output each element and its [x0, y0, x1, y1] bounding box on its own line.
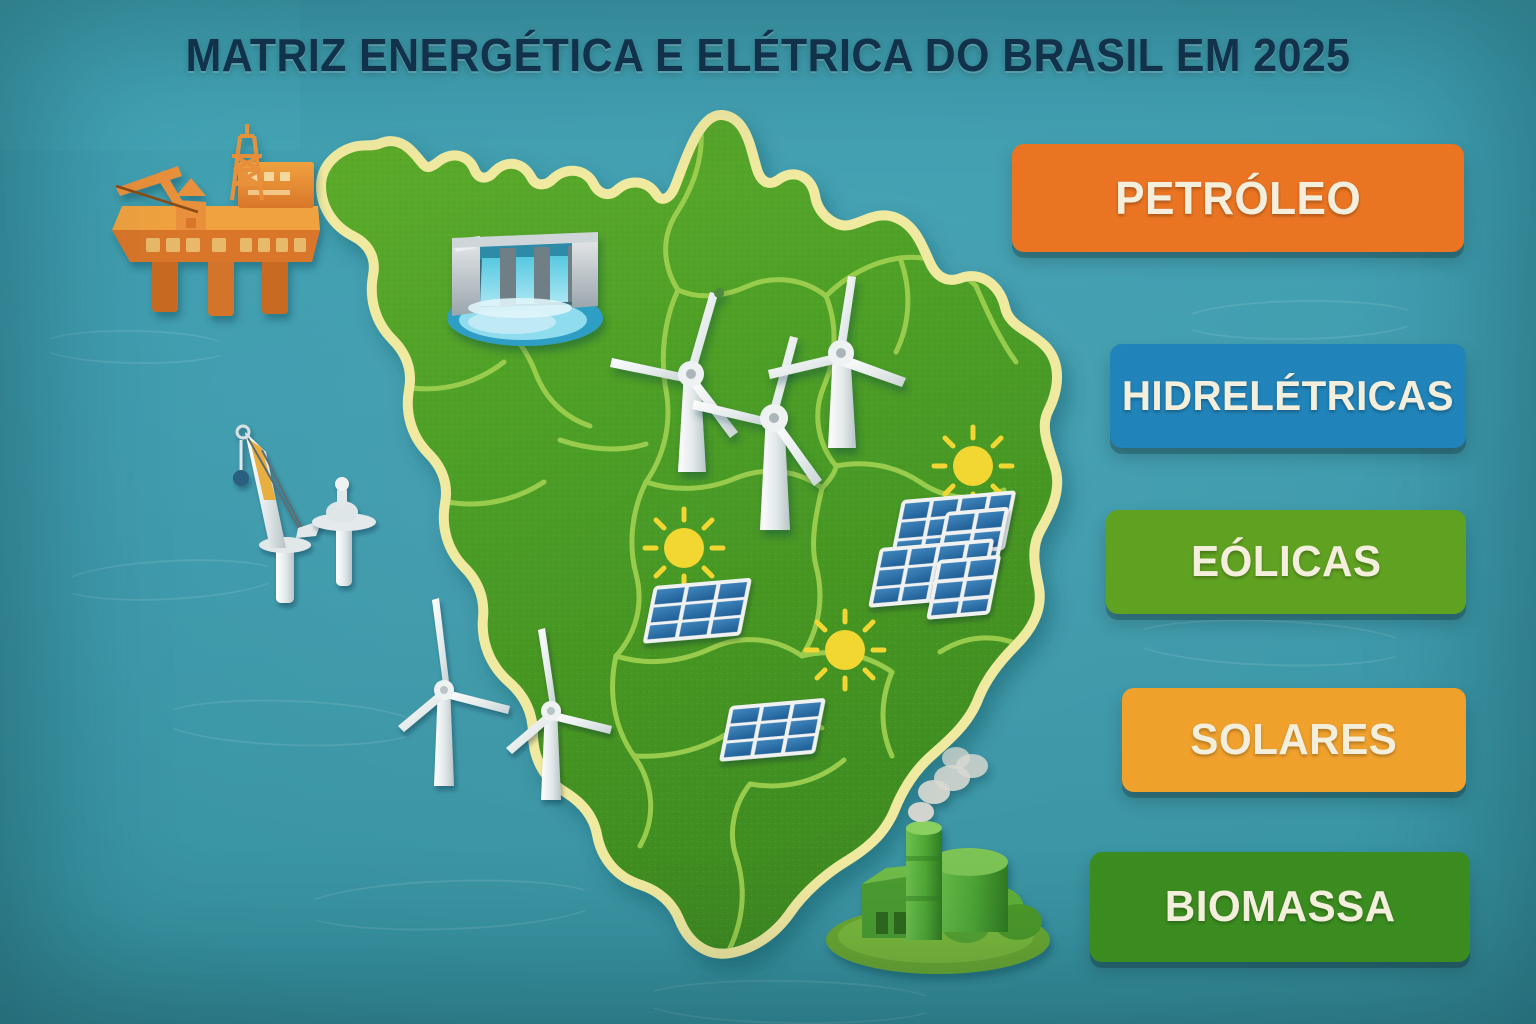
legend-label-eolicas: EÓLICAS — [1191, 537, 1381, 587]
solar-panel-array-icon — [719, 698, 826, 762]
sea-ripple — [299, 875, 601, 935]
brazil-landmass — [326, 120, 1052, 949]
sea-ripple — [1180, 298, 1421, 342]
sea-ripple — [640, 977, 941, 1024]
sea-ripple — [1129, 615, 1410, 671]
sea-ripple — [159, 695, 420, 750]
solar-panel-array-icon — [868, 538, 994, 608]
onshore-wind-turbine-icon — [692, 336, 822, 530]
sun-icon — [806, 611, 884, 689]
legend-item-solares[interactable]: SOLARES — [1122, 688, 1466, 792]
state-borders — [412, 120, 1016, 948]
legend-item-eolicas[interactable]: EÓLICAS — [1106, 510, 1466, 614]
offshore-installation-crane-icon — [233, 426, 322, 603]
sea-ripple — [40, 328, 231, 365]
solar-panel-array-icon — [642, 578, 752, 644]
hydroelectric-dam-icon — [447, 232, 603, 346]
sun-icon — [934, 427, 1012, 505]
offshore-wind-turbine-icon — [398, 598, 510, 786]
legend-item-petroleo[interactable]: PETRÓLEO — [1012, 144, 1464, 252]
legend-item-hidreletricas[interactable]: HIDRELÉTRICAS — [1110, 344, 1466, 448]
page-title: MATRIZ ENERGÉTICA E ELÉTRICA DO BRASIL E… — [54, 28, 1482, 82]
legend-label-petroleo: PETRÓLEO — [1115, 171, 1361, 225]
sun-icon — [645, 509, 723, 587]
solar-panel-array-icon — [934, 507, 1010, 574]
offshore-platform-icon — [312, 477, 376, 586]
onshore-wind-turbine-icon — [610, 288, 738, 472]
solar-panel-array-icon — [890, 490, 1016, 560]
offshore-wind-turbine-icon — [506, 628, 612, 800]
onshore-wind-turbine-icon — [768, 276, 906, 448]
legend-label-solares: SOLARES — [1191, 715, 1398, 765]
infographic-poster: MATRIZ ENERGÉTICA E ELÉTRICA DO BRASIL E… — [0, 0, 1536, 1024]
legend-item-biomassa[interactable]: BIOMASSA — [1090, 852, 1470, 962]
sea-ripple — [59, 554, 281, 605]
biomass-power-plant-icon — [826, 747, 1050, 974]
legend-label-biomassa: BIOMASSA — [1165, 882, 1396, 932]
offshore-oil-platform-icon — [112, 124, 320, 316]
solar-panel-array-icon — [926, 555, 1001, 620]
legend-label-hidreletricas: HIDRELÉTRICAS — [1122, 372, 1454, 420]
